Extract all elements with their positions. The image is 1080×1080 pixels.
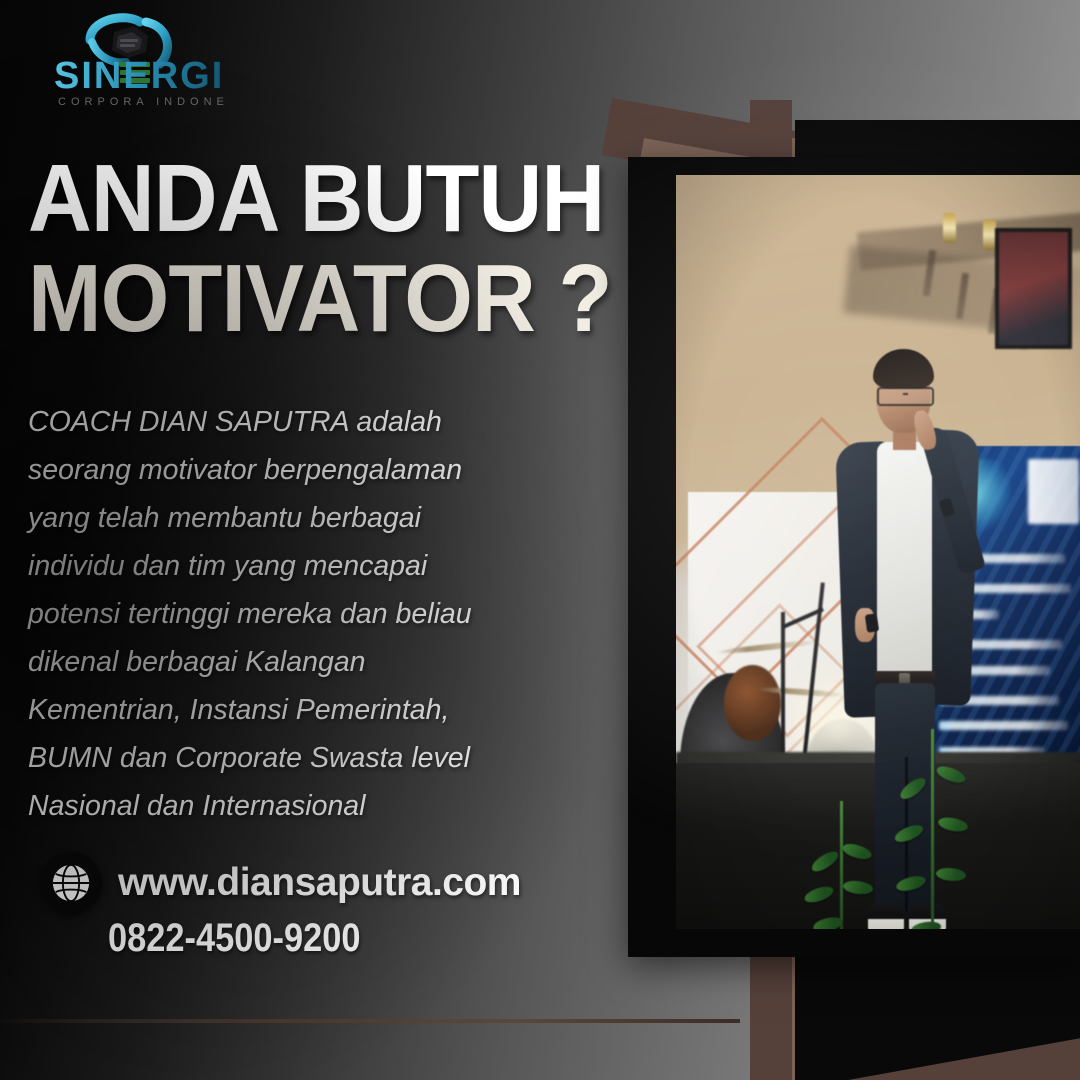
speaker-photo	[676, 175, 1080, 929]
headline-line-1: ANDA BUTUH	[28, 152, 580, 246]
hair	[873, 349, 933, 389]
website-url[interactable]: www.diansaputra.com	[118, 861, 521, 905]
screen-heading	[1028, 459, 1079, 523]
photo-frame-assembly	[620, 60, 1080, 1080]
svg-text:CORPORA INDONESIA: CORPORA INDONESIA	[58, 96, 228, 108]
promotional-poster: SINERGI CORPORA INDONESIA ANDA BUTUH MOT…	[0, 0, 1080, 1080]
foreground-plant	[797, 778, 886, 929]
phone-number[interactable]: 0822-4500-9200	[108, 916, 514, 961]
svg-text:SINERGI: SINERGI	[54, 55, 224, 97]
headline-line-2: MOTIVATOR ?	[28, 252, 580, 346]
website-row[interactable]: www.diansaputra.com	[40, 852, 580, 914]
photo-card	[628, 157, 1080, 957]
brand-logo[interactable]: SINERGI CORPORA INDONESIA	[28, 6, 228, 116]
spotlight	[983, 220, 996, 250]
foreground-plant	[886, 718, 983, 929]
handshake-icon: SINERGI CORPORA INDONESIA	[28, 6, 228, 116]
page-title: ANDA BUTUH MOTIVATOR ?	[28, 152, 628, 346]
globe-icon	[40, 852, 102, 914]
spotlight	[943, 213, 956, 243]
description-paragraph: COACH DIAN SAPUTRA adalah seorang motiva…	[28, 398, 498, 830]
wall-picture	[995, 228, 1072, 349]
dress-shirt	[877, 442, 932, 688]
tom-drum	[724, 665, 781, 740]
contact-block: www.diansaputra.com 0822-4500-9200	[40, 852, 580, 961]
eyeglasses	[877, 387, 933, 406]
